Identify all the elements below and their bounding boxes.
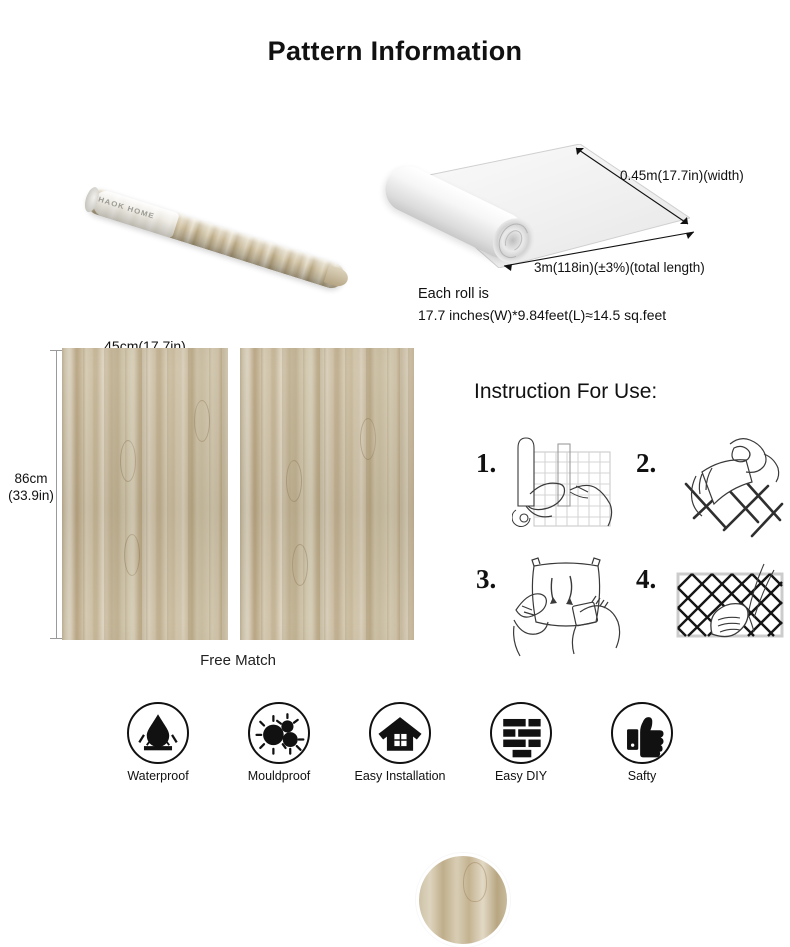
height-dimension-line	[56, 350, 57, 638]
badge-circle	[248, 702, 310, 764]
instruction-step-4: 4.	[636, 548, 786, 660]
measure-and-cut-icon	[512, 432, 626, 544]
pattern-magnifier-circle	[416, 853, 510, 947]
step-number: 2.	[636, 448, 656, 479]
badge-label: Safty	[588, 769, 696, 783]
page-title: Pattern Information	[0, 36, 790, 67]
wood-panel-right	[240, 348, 414, 640]
swatch-height-label-in: (33.9in)	[8, 487, 54, 504]
badge-label: Waterproof	[104, 769, 212, 783]
peel-backing-icon	[672, 432, 786, 544]
swatch-height-label-cm: 86cm	[8, 470, 54, 487]
water-drop-icon	[129, 704, 187, 762]
instruction-step-3: 3.	[476, 548, 626, 660]
product-infographic: Pattern Information HAOK HOME 0.45m	[0, 0, 790, 804]
wood-knot	[360, 418, 376, 460]
roll-dimension-diagram: 0.45m(17.7in)(width) 3m(118in)(±3%)(tota…	[388, 136, 790, 296]
badge-circle	[127, 702, 189, 764]
magnifier-leader-line	[354, 851, 424, 885]
coverage-line-2: 17.7 inches(W)*9.84feet(L)≈14.5 sq.feet	[418, 305, 666, 326]
leader-dot	[364, 856, 368, 860]
feature-badges: Waterproof	[104, 702, 696, 794]
coverage-line-1: Each roll is	[418, 284, 666, 305]
magnified-wood-knot	[463, 862, 487, 902]
badge-circle	[369, 702, 431, 764]
seam-arrow-right	[252, 851, 304, 860]
house-icon	[371, 704, 429, 762]
instruction-step-1: 1.	[476, 432, 626, 544]
badge-circle	[611, 702, 673, 764]
squeegee-surface-icon	[672, 548, 786, 660]
feature-badge-safty: Safty	[588, 702, 696, 794]
leader-dot	[394, 871, 398, 875]
swatch-height-dimension: 86cm (33.9in)	[8, 470, 54, 504]
thumbs-up-icon	[613, 704, 671, 762]
wood-panel-left	[62, 348, 228, 640]
wood-knot	[286, 460, 302, 502]
apply-and-smooth-icon	[512, 548, 626, 660]
wood-pattern-swatches	[62, 348, 414, 640]
wood-knot	[292, 544, 308, 586]
feature-badge-mouldproof: Mouldproof	[225, 702, 333, 794]
badge-label: Easy DIY	[467, 769, 575, 783]
wood-knot	[120, 440, 136, 482]
free-match-caption: Free Match	[62, 652, 414, 669]
leader-dot	[384, 866, 388, 870]
roll-width-dimension-label: 0.45m(17.7in)(width)	[620, 168, 744, 183]
arrow-head	[310, 850, 322, 860]
step-number: 4.	[636, 564, 656, 595]
wood-knot	[124, 534, 140, 576]
badge-label: Mouldproof	[225, 769, 333, 783]
badge-label: Easy Installation	[346, 769, 454, 783]
leader-dot	[404, 876, 408, 880]
feature-badge-easy-diy: Easy DIY	[467, 702, 575, 794]
roll-coverage-summary: Each roll is 17.7 inches(W)*9.84feet(L)≈…	[418, 284, 666, 326]
feature-badge-easy-installation: Easy Installation	[346, 702, 454, 794]
leader-dot	[374, 861, 378, 865]
arrow-shaft	[252, 853, 294, 858]
mould-germ-icon	[250, 704, 308, 762]
wood-knot	[194, 400, 210, 442]
leader-dot	[354, 851, 358, 855]
badge-circle	[490, 702, 552, 764]
step-number: 1.	[476, 448, 496, 479]
roll-length-dimension-label: 3m(118in)(±3%)(total length)	[534, 260, 705, 275]
instructions-heading: Instruction For Use:	[474, 380, 657, 404]
instruction-step-2: 2.	[636, 432, 786, 544]
step-number: 3.	[476, 564, 496, 595]
product-roll-photo: HAOK HOME	[70, 186, 347, 335]
feature-badge-waterproof: Waterproof	[104, 702, 212, 794]
brick-wall-icon	[492, 704, 550, 762]
arrow-head	[292, 850, 304, 860]
